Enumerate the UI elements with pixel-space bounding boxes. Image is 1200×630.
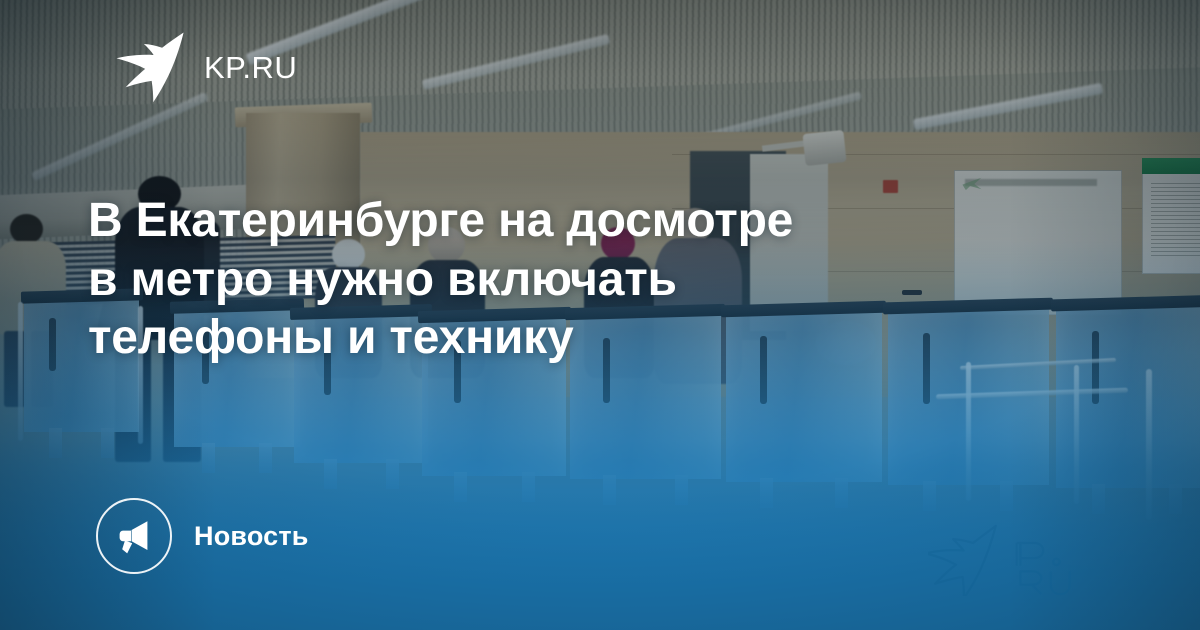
brand-logo-text: KP.RU xyxy=(204,52,297,83)
kp-watermark xyxy=(928,524,1092,596)
news-badge-label: Новость xyxy=(194,523,309,550)
brand-logo[interactable]: KP.RU xyxy=(108,30,297,104)
news-badge-circle xyxy=(96,498,172,574)
headline-title: В Екатеринбурге на досмотре в метро нужн… xyxy=(88,192,988,368)
megaphone-icon xyxy=(114,516,154,556)
swallow-bird-icon xyxy=(108,30,186,104)
news-badge[interactable]: Новость xyxy=(96,498,309,574)
news-share-card: KP.RU В Екатеринбурге на досмотре в метр… xyxy=(0,0,1200,630)
